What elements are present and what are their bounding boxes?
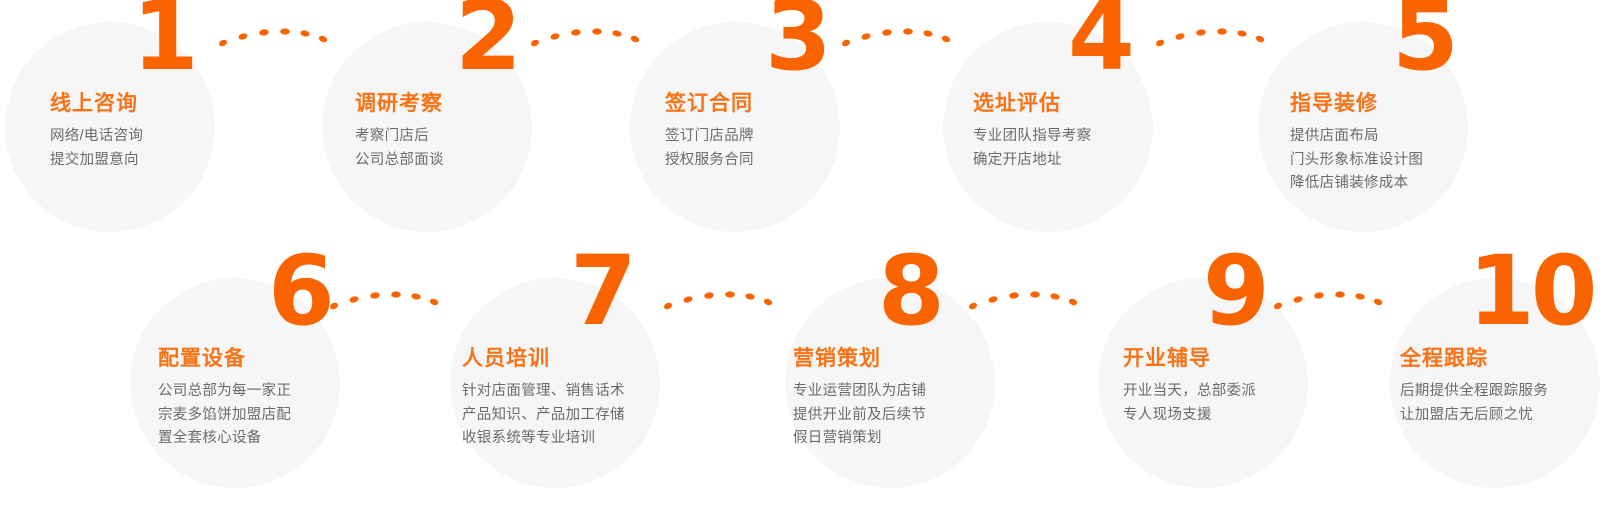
step-desc-line: 针对店面管理、销售话术	[462, 380, 625, 403]
step-title-9: 开业辅导	[1123, 347, 1256, 371]
step-desc-line: 让加盟店无后顾之忧	[1400, 404, 1548, 427]
step-title-6: 配置设备	[158, 347, 291, 371]
step-desc-line: 确定开店地址	[973, 149, 1091, 172]
step-desc-line: 专业运营团队为店铺	[793, 380, 926, 403]
step-number-2: 2	[455, 0, 520, 84]
connector-6-to-7	[326, 283, 446, 323]
step-text-6: 配置设备 公司总部为每一家正 宗麦多馅饼加盟店配 置全套核心设备	[158, 347, 291, 451]
step-number-7: 7	[570, 243, 635, 339]
step-desc-7: 针对店面管理、销售话术 产品知识、产品加工存储 收银系统等专业培训	[462, 380, 625, 450]
step-desc-line: 专人现场支援	[1123, 404, 1256, 427]
step-text-10: 全程跟踪 后期提供全程跟踪服务 让加盟店无后顾之忧	[1400, 347, 1548, 427]
step-desc-10: 后期提供全程跟踪服务 让加盟店无后顾之忧	[1400, 380, 1548, 427]
step-desc-line: 提供开业前及后续节	[793, 404, 926, 427]
step-number-6: 6	[268, 243, 333, 339]
step-text-9: 开业辅导 开业当天，总部委派 专人现场支援	[1123, 347, 1256, 427]
step-title-8: 营销策划	[793, 347, 926, 371]
step-title-4: 选址评估	[973, 92, 1091, 116]
step-desc-line: 门头形象标准设计图	[1290, 149, 1423, 172]
step-desc-1: 网络/电话咨询 提交加盟意向	[50, 125, 143, 172]
franchise-process-diagram: 1 线上咨询 网络/电话咨询 提交加盟意向 2 调研考察 考察门店后 公司总部面…	[0, 0, 1606, 508]
step-desc-line: 网络/电话咨询	[50, 125, 143, 148]
step-desc-line: 假日营销策划	[793, 427, 926, 450]
step-number-8: 8	[878, 243, 943, 339]
step-desc-2: 考察门店后 公司总部面谈	[355, 125, 444, 172]
step-desc-6: 公司总部为每一家正 宗麦多馅饼加盟店配 置全套核心设备	[158, 380, 291, 450]
connector-7-to-8	[660, 283, 780, 323]
step-text-1: 线上咨询 网络/电话咨询 提交加盟意向	[50, 92, 143, 172]
step-number-10: 10	[1468, 243, 1594, 339]
step-number-1: 1	[132, 0, 197, 84]
step-title-10: 全程跟踪	[1400, 347, 1548, 371]
step-text-5: 指导装修 提供店面布局 门头形象标准设计图 降低店铺装修成本	[1290, 92, 1423, 196]
step-text-4: 选址评估 专业团队指导考察 确定开店地址	[973, 92, 1091, 172]
step-title-5: 指导装修	[1290, 92, 1423, 116]
step-desc-line: 置全套核心设备	[158, 427, 291, 450]
step-number-5: 5	[1392, 0, 1457, 84]
step-desc-line: 公司总部面谈	[355, 149, 444, 172]
step-desc-line: 后期提供全程跟踪服务	[1400, 380, 1548, 403]
connector-9-to-10	[1270, 283, 1390, 323]
step-title-7: 人员培训	[462, 347, 625, 371]
connector-3-to-4	[838, 20, 958, 60]
step-desc-line: 宗麦多馅饼加盟店配	[158, 404, 291, 427]
connector-1-to-2	[215, 20, 335, 60]
step-desc-line: 提供店面布局	[1290, 125, 1423, 148]
step-desc-8: 专业运营团队为店铺 提供开业前及后续节 假日营销策划	[793, 380, 926, 450]
step-desc-3: 签订门店品牌 授权服务合同	[665, 125, 754, 172]
step-desc-5: 提供店面布局 门头形象标准设计图 降低店铺装修成本	[1290, 125, 1423, 195]
step-desc-line: 考察门店后	[355, 125, 444, 148]
connector-8-to-9	[965, 283, 1085, 323]
step-number-4: 4	[1068, 0, 1133, 84]
step-number-9: 9	[1203, 243, 1268, 339]
step-desc-line: 签订门店品牌	[665, 125, 754, 148]
step-text-8: 营销策划 专业运营团队为店铺 提供开业前及后续节 假日营销策划	[793, 347, 926, 451]
step-desc-line: 降低店铺装修成本	[1290, 172, 1423, 195]
step-desc-line: 产品知识、产品加工存储	[462, 404, 625, 427]
step-desc-line: 开业当天，总部委派	[1123, 380, 1256, 403]
step-title-2: 调研考察	[355, 92, 444, 116]
step-text-7: 人员培训 针对店面管理、销售话术 产品知识、产品加工存储 收银系统等专业培训	[462, 347, 625, 451]
step-desc-line: 收银系统等专业培训	[462, 427, 625, 450]
step-desc-line: 提交加盟意向	[50, 149, 143, 172]
step-desc-line: 授权服务合同	[665, 149, 754, 172]
step-desc-4: 专业团队指导考察 确定开店地址	[973, 125, 1091, 172]
connector-2-to-3	[527, 20, 647, 60]
step-number-3: 3	[765, 0, 830, 84]
step-desc-line: 公司总部为每一家正	[158, 380, 291, 403]
step-title-3: 签订合同	[665, 92, 754, 116]
step-text-2: 调研考察 考察门店后 公司总部面谈	[355, 92, 444, 172]
step-text-3: 签订合同 签订门店品牌 授权服务合同	[665, 92, 754, 172]
step-desc-line: 专业团队指导考察	[973, 125, 1091, 148]
connector-4-to-5	[1152, 20, 1272, 60]
step-desc-9: 开业当天，总部委派 专人现场支援	[1123, 380, 1256, 427]
step-title-1: 线上咨询	[50, 92, 143, 116]
